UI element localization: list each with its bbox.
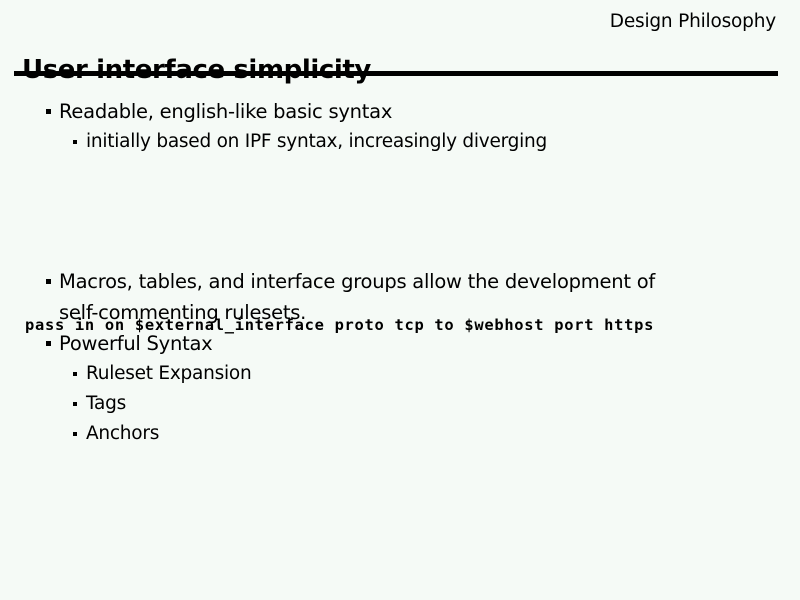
list-item-label: Tags — [86, 389, 800, 419]
bullet-square-icon — [46, 109, 51, 114]
bullet-square-icon — [73, 372, 77, 376]
list-item: Anchors — [0, 419, 800, 449]
list-item: Tags — [0, 389, 800, 419]
bullet-square-icon — [46, 279, 51, 284]
list-item-label: Anchors — [86, 419, 800, 449]
bullet-square-icon — [73, 402, 77, 406]
list-item-label: Macros, tables, and interface groups all… — [59, 266, 695, 328]
list-item: Readable, english-like basic syntax — [0, 96, 800, 127]
list-item: initially based on IPF syntax, increasin… — [0, 127, 800, 157]
list-item-label: initially based on IPF syntax, increasin… — [86, 127, 800, 157]
list-item: Ruleset Expansion — [0, 359, 800, 389]
bullet-group-two: Macros, tables, and interface groups all… — [0, 266, 800, 449]
bullet-square-icon — [46, 341, 51, 346]
list-item: Powerful Syntax — [0, 328, 800, 359]
list-item-label: Powerful Syntax — [59, 328, 800, 359]
list-item: Macros, tables, and interface groups all… — [0, 266, 800, 328]
list-item-label: Readable, english-like basic syntax — [59, 96, 800, 127]
slide-section-header: Design Philosophy — [610, 11, 776, 33]
bullet-group-one: Readable, english-like basic syntax init… — [0, 96, 800, 157]
list-item-label: Ruleset Expansion — [86, 359, 800, 389]
title-divider — [14, 71, 778, 76]
bullet-square-icon — [73, 140, 77, 144]
bullet-square-icon — [73, 432, 77, 436]
slide-canvas: Design Philosophy User interface simplic… — [0, 0, 800, 600]
